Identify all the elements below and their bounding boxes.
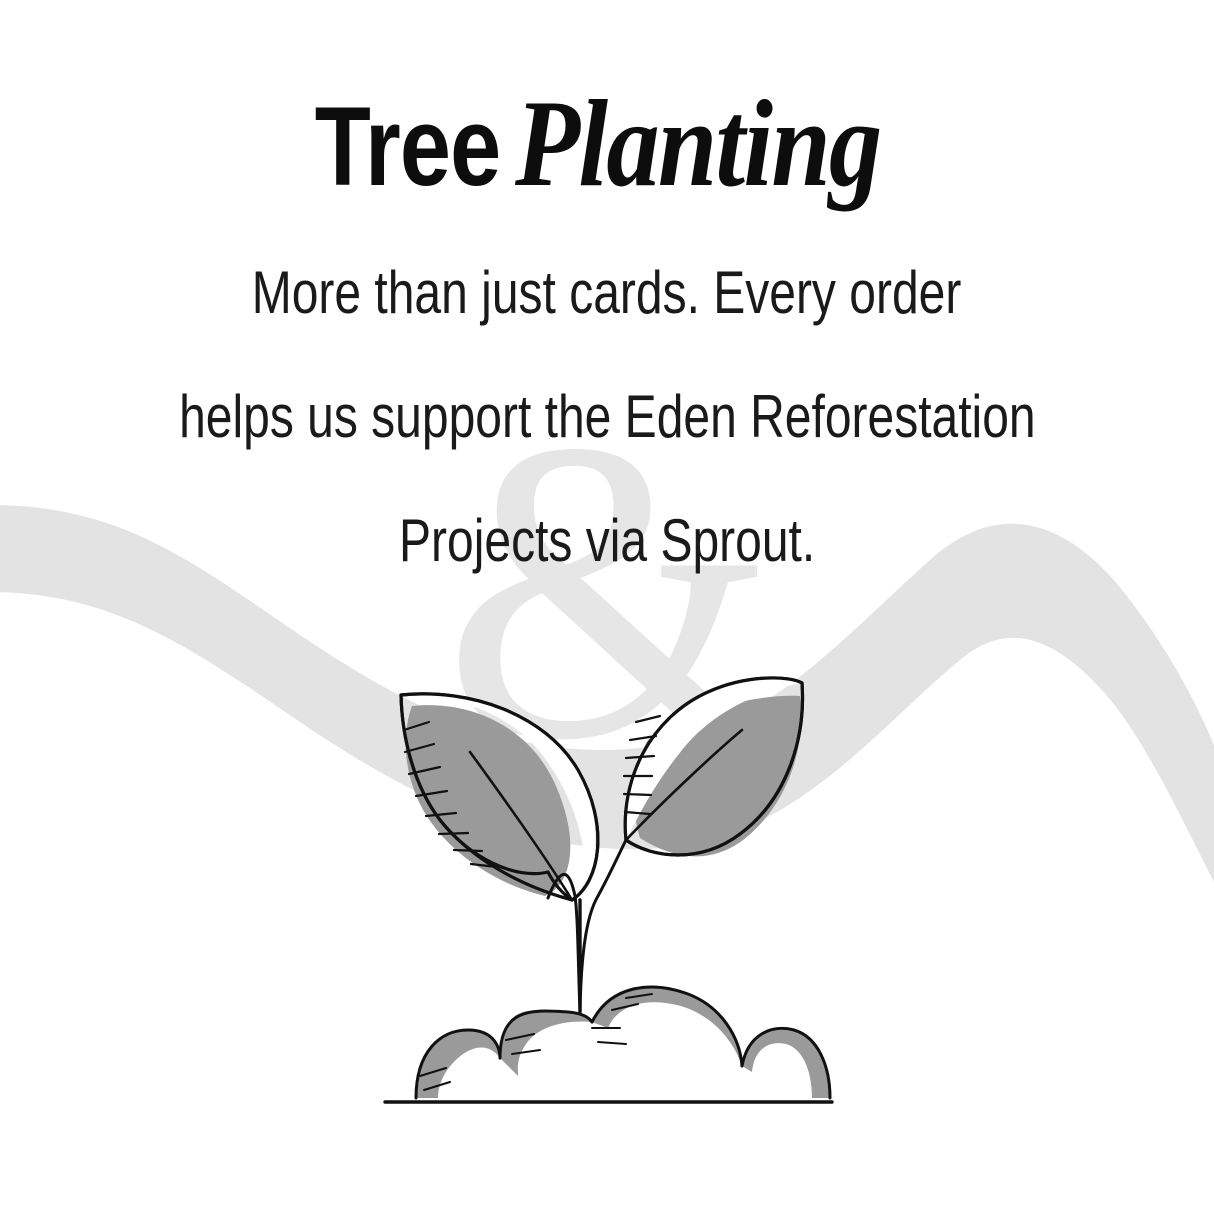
soil-mound xyxy=(416,987,830,1098)
body-line-2-text: helps us support the Eden Reforestation xyxy=(179,382,1036,451)
tree-planting-promo-card: & xyxy=(0,0,1214,1214)
body-line-1-text: More than just cards. Every order xyxy=(252,258,962,327)
title-word-regular: Tree xyxy=(315,91,501,203)
title-word-italic: Planting xyxy=(515,82,881,206)
left-leaf xyxy=(401,694,598,900)
body-line-2: helps us support the Eden Reforestation xyxy=(0,382,1214,451)
page-title: TreePlanting xyxy=(0,82,1214,206)
body-line-1: More than just cards. Every order xyxy=(0,258,1214,327)
body-line-3: Projects via Sprout. xyxy=(0,506,1214,575)
body-line-3-text: Projects via Sprout. xyxy=(399,506,815,575)
soil-arc-3-shade xyxy=(592,987,742,1066)
right-leaf xyxy=(624,678,802,856)
